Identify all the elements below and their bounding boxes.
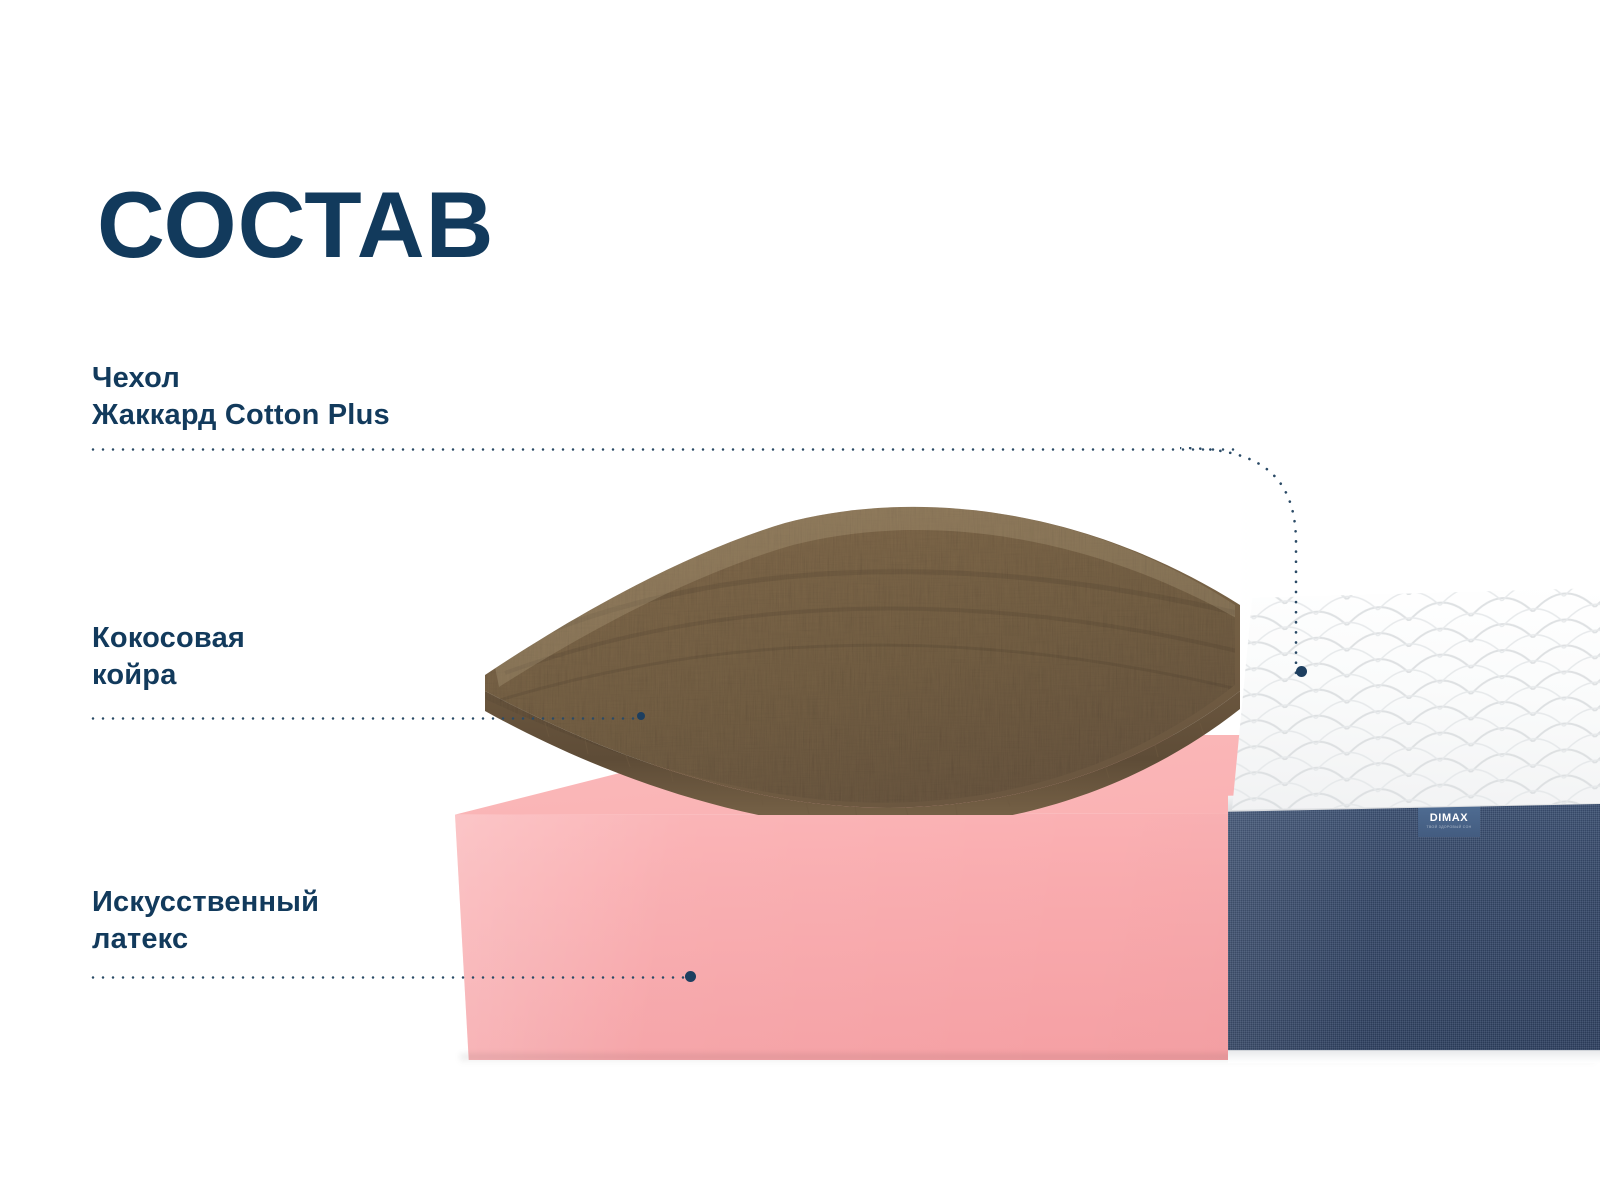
leader-dot-latex bbox=[685, 971, 696, 982]
coir-sheet bbox=[455, 495, 1255, 815]
leader-line-cover bbox=[88, 448, 1236, 451]
label-coir-line1: Кокосовая bbox=[92, 620, 245, 657]
leader-line-latex bbox=[88, 976, 691, 979]
brand-badge: DIMAX ТВОЙ ЗДОРОВЫЙ СОН bbox=[1418, 806, 1480, 837]
label-cover-line2: Жаккард Cotton Plus bbox=[92, 397, 390, 434]
label-latex-line2: латекс bbox=[92, 921, 319, 958]
label-cover-line1: Чехол bbox=[92, 360, 390, 397]
brand-name: DIMAX bbox=[1430, 813, 1468, 824]
side-panel-base-trim bbox=[1228, 1050, 1600, 1063]
page-title: СОСТАВ bbox=[97, 178, 494, 272]
label-coir: Кокосовая койра bbox=[92, 620, 245, 694]
brand-tagline: ТВОЙ ЗДОРОВЫЙ СОН bbox=[1427, 826, 1472, 829]
coconut-coir-layer bbox=[455, 495, 1255, 815]
mattress-side-panel: DIMAX ТВОЙ ЗДОРОВЫЙ СОН bbox=[1228, 800, 1600, 1058]
label-coir-line2: койра bbox=[92, 657, 245, 694]
label-latex: Искусственный латекс bbox=[92, 884, 319, 958]
side-panel-sheen bbox=[1228, 800, 1600, 1058]
leader-dot-cover bbox=[1296, 666, 1307, 677]
mattress-composition-infographic: СОСТАВ DIMAX ТВОЙ ЗДОРОВЫЙ СОН bbox=[0, 0, 1600, 1201]
label-latex-line1: Искусственный bbox=[92, 884, 319, 921]
white-quilted-cover bbox=[1232, 588, 1600, 810]
label-cover: Чехол Жаккард Cotton Plus bbox=[92, 360, 390, 434]
leader-line-coir bbox=[88, 717, 641, 720]
cover-quilt-pattern bbox=[1232, 588, 1600, 810]
leader-dot-coir bbox=[637, 712, 645, 720]
